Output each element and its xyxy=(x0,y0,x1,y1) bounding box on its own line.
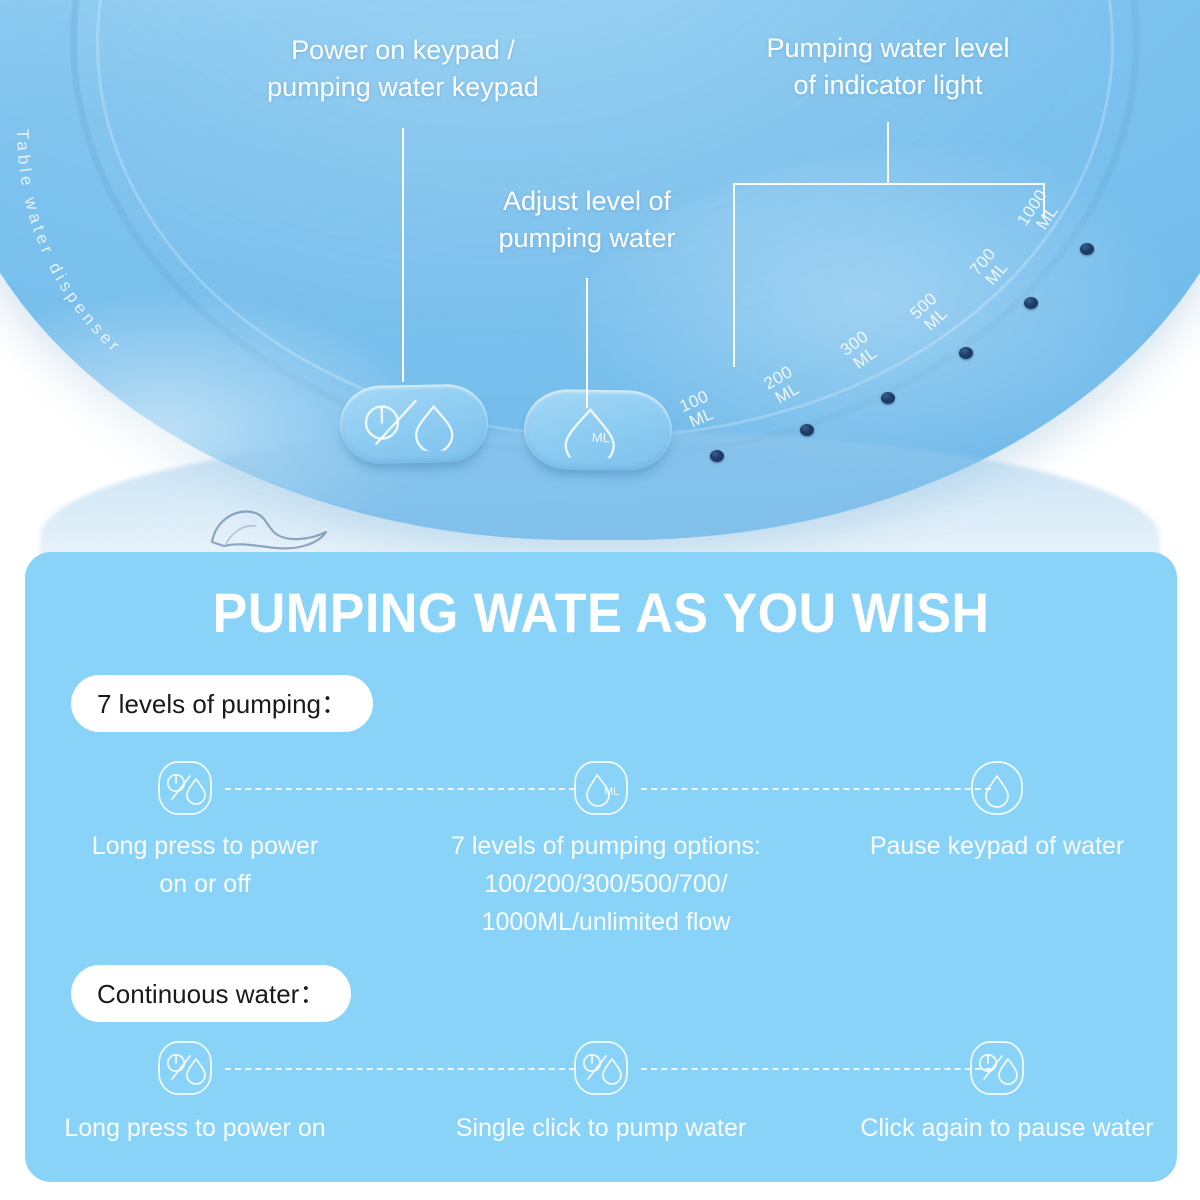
product-photo: Table water dispenser ML 100 ML 200 ML xyxy=(0,0,1200,560)
caption-pumping-options: 7 levels of pumping options: 100/200/300… xyxy=(395,827,817,941)
dash-connector-2a xyxy=(225,1068,575,1070)
pill-continuous-water: Continuous water： xyxy=(71,965,351,1022)
annotation-adjust-level: Adjust level of pumping water xyxy=(432,183,742,258)
caption-long-press-power-on: Long press to power on xyxy=(25,1109,365,1147)
icon-power-droplet-3[interactable] xyxy=(570,1037,632,1099)
brand-curved-text-label: Table water dispenser xyxy=(13,129,126,358)
bracket-right-arm-indicator xyxy=(1043,183,1045,219)
bracket-top-indicator xyxy=(733,183,1045,185)
infographic-page: Table water dispenser ML 100 ML 200 ML xyxy=(0,0,1200,1200)
indicator-led-300 xyxy=(881,392,895,404)
icon-power-droplet-4[interactable] xyxy=(966,1037,1028,1099)
bracket-left-arm-indicator xyxy=(733,183,735,367)
feature-card: PUMPING WATE AS YOU WISH 7 levels of pum… xyxy=(25,552,1177,1182)
dash-connector-1a xyxy=(225,788,575,790)
indicator-led-200 xyxy=(800,424,814,436)
caption-pause-keypad: Pause keypad of water xyxy=(827,827,1167,865)
ml-icon-label: ML xyxy=(604,786,619,798)
indicator-led-100 xyxy=(710,450,724,462)
dolphin-logo-icon xyxy=(206,498,336,554)
card-headline: PUMPING WATE AS YOU WISH xyxy=(65,580,1136,645)
icon-row-continuous xyxy=(25,1037,1177,1099)
icon-power-droplet-1[interactable] xyxy=(154,757,216,819)
ml-keypad-button[interactable]: ML xyxy=(523,389,672,472)
leader-line-indicator-stem xyxy=(887,122,889,184)
icon-row-levels: ML xyxy=(25,757,1177,819)
indicator-led-700 xyxy=(1024,297,1038,309)
ml-droplet-icon: ML xyxy=(544,401,653,459)
dash-connector-1b xyxy=(641,788,991,790)
caption-click-again-pause: Click again to pause water xyxy=(837,1109,1177,1147)
brand-curved-text: Table water dispenser xyxy=(0,80,390,440)
caption-single-click-pump: Single click to pump water xyxy=(431,1109,771,1147)
icon-power-droplet-2[interactable] xyxy=(154,1037,216,1099)
icon-droplet-pause[interactable] xyxy=(966,757,1028,819)
leader-line-power-keypad xyxy=(402,128,404,382)
indicator-led-500 xyxy=(959,347,973,359)
indicator-led-1000 xyxy=(1080,243,1094,255)
annotation-indicator-light: Pumping water level of indicator light xyxy=(712,30,1064,105)
svg-text:Table water dispenser: Table water dispenser xyxy=(13,129,126,358)
ml-button-label: ML xyxy=(592,430,610,445)
power-keypad-button[interactable] xyxy=(339,384,488,465)
pill-seven-levels: 7 levels of pumping： xyxy=(71,675,373,732)
leader-line-adjust-level xyxy=(586,278,588,408)
power-droplet-icon xyxy=(354,396,475,452)
caption-power-on-off: Long press to power on or off xyxy=(35,827,375,903)
icon-ml-droplet[interactable]: ML xyxy=(570,757,632,819)
dash-connector-2b xyxy=(641,1068,991,1070)
annotation-power-keypad: Power on keypad / pumping water keypad xyxy=(228,32,578,107)
